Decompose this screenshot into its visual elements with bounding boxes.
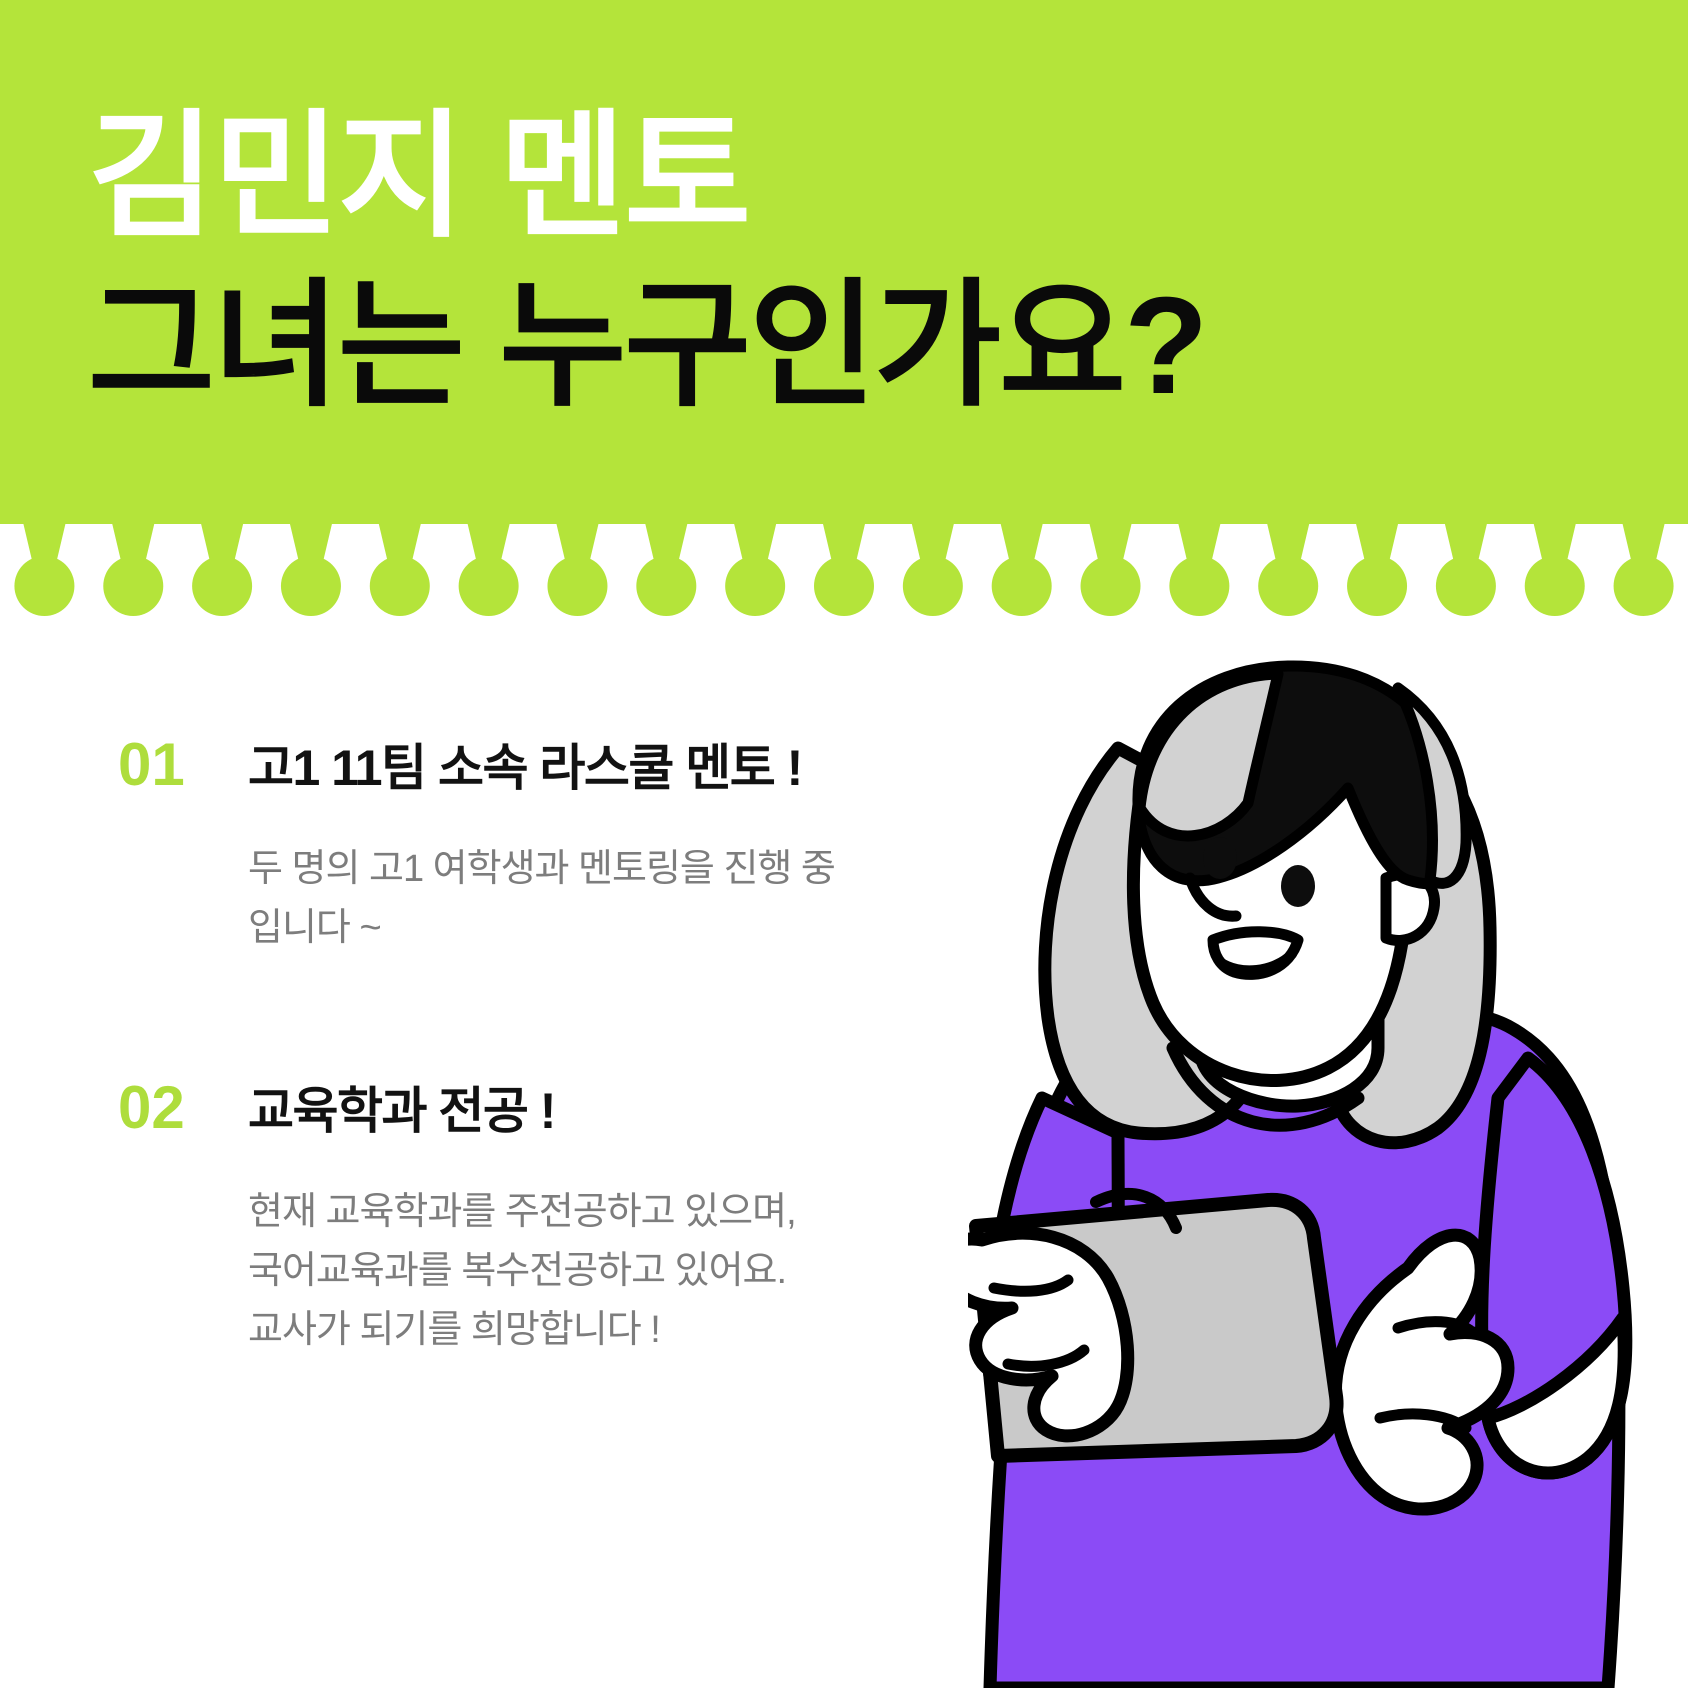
list-item-title: 고1 11팀 소속 라스쿨 멘토 !: [248, 741, 802, 796]
header-banner: 김민지 멘토 그녀는 누구인가요?: [0, 0, 1688, 523]
list-item-body: 현재 교육학과를 주전공하고 있으며, 국어교육과를 복수전공하고 있어요. 교…: [248, 1183, 998, 1360]
list-item-body: 두 명의 고1 여학생과 멘토링을 진행 중 입니다 ~: [248, 840, 998, 958]
list-item-heading: 02 교육학과 전공 !: [118, 1078, 998, 1139]
woman-with-tablet-illustration: [968, 628, 1688, 1688]
poster-card: 김민지 멘토 그녀는 누구인가요? 01 고1 11팀 소속 라스쿨 멘토 ! …: [0, 0, 1688, 1688]
page-title-line2: 그녀는 누구인가요?: [88, 265, 1588, 428]
page-title-line1: 김민지 멘토: [88, 96, 1588, 259]
info-list: 01 고1 11팀 소속 라스쿨 멘토 ! 두 명의 고1 여학생과 멘토링을 …: [118, 735, 998, 1359]
list-item-number: 02: [118, 1078, 214, 1138]
mouth: [1213, 932, 1298, 975]
list-item: 02 교육학과 전공 ! 현재 교육학과를 주전공하고 있으며, 국어교육과를 …: [118, 1078, 998, 1360]
list-item-heading: 01 고1 11팀 소속 라스쿨 멘토 !: [118, 735, 998, 796]
list-item-title: 교육학과 전공 !: [248, 1084, 555, 1139]
list-item: 01 고1 11팀 소속 라스쿨 멘토 ! 두 명의 고1 여학생과 멘토링을 …: [118, 735, 998, 958]
right-arm: [1482, 1058, 1626, 1473]
list-item-number: 01: [118, 735, 214, 795]
header-title-block: 김민지 멘토 그녀는 누구인가요?: [88, 96, 1588, 428]
